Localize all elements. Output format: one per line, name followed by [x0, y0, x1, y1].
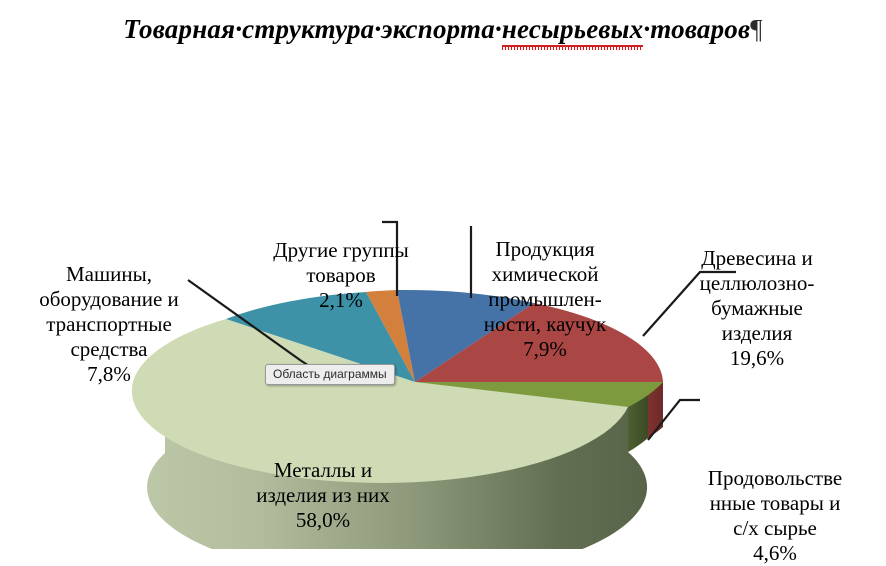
data-label-food[interactable]: Продовольстве нные товары и с/х сырье 4,… — [668, 466, 882, 566]
data-label-wood[interactable]: Древесина и целлюлозно- бумажные изделия… — [654, 246, 860, 371]
chart-area[interactable]: Машины, оборудование и транспортные сред… — [0, 100, 886, 549]
page-title-suffix: ·товаров — [643, 14, 750, 44]
data-label-machines[interactable]: Машины, оборудование и транспортные сред… — [4, 262, 214, 387]
data-label-metals[interactable]: Металлы и изделия из них 58,0% — [198, 458, 448, 533]
data-label-other[interactable]: Другие группы товаров 2,1% — [246, 238, 436, 313]
page-title-misspelled-word: несырьевых — [502, 14, 643, 47]
pilcrow-mark: ¶ — [750, 14, 762, 44]
page-title-prefix: Товарная·структура·экспорта· — [123, 14, 502, 44]
page-title: Товарная·структура·экспорта·несырьевых·т… — [0, 14, 886, 47]
chart-area-tooltip: Область диаграммы — [265, 364, 395, 385]
data-label-chemical[interactable]: Продукция химической промышлен- ности, к… — [452, 237, 638, 362]
